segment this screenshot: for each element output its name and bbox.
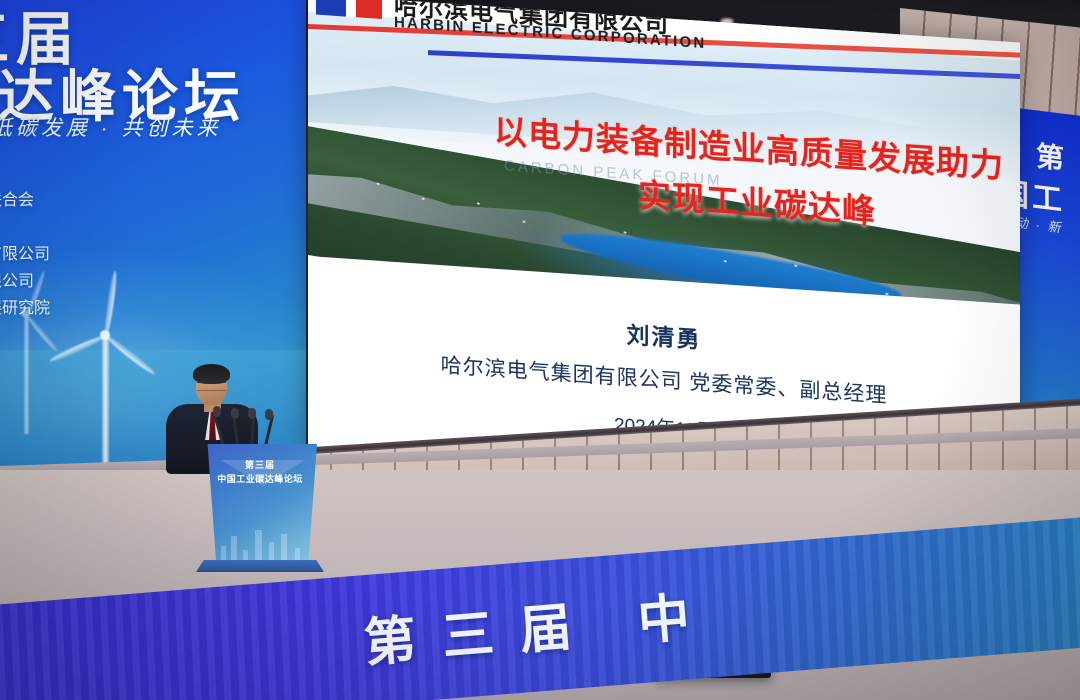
podium-base bbox=[196, 560, 324, 572]
microphone-head bbox=[265, 409, 273, 420]
organizer-line: 团有限公司 bbox=[0, 268, 284, 295]
organizer-line: 单位 bbox=[0, 160, 284, 187]
podium-skyline-graphic bbox=[217, 516, 309, 564]
podium-sign-line-1: 第三届 bbox=[203, 458, 317, 471]
microphone-head bbox=[231, 408, 239, 419]
turbine-mast bbox=[24, 314, 29, 434]
conference-photo: 三届 碳达峰论坛 · 低碳发展 · 共创未来 单位 经济联合会 单位 集团有限公… bbox=[0, 0, 1080, 700]
podium: 第三届 中国工业碳达峰论坛 bbox=[203, 444, 317, 570]
microphone-head bbox=[248, 408, 256, 419]
organizer-line: 经济联合会 bbox=[0, 187, 284, 214]
microphone-head bbox=[213, 406, 221, 417]
speaker-hair bbox=[193, 364, 230, 384]
banner-left-subtitle: · 低碳发展 · 共创未来 bbox=[0, 112, 222, 142]
organizer-line: 单位 bbox=[0, 214, 284, 241]
turbine-blade bbox=[104, 334, 157, 377]
banner-left-organizers: 单位 经济联合会 单位 集团有限公司 团有限公司 市发展研究院 bbox=[0, 160, 284, 322]
organizer-line: 集团有限公司 bbox=[0, 241, 284, 268]
podium-sign-line-2: 中国工业碳达峰论坛 bbox=[203, 472, 317, 485]
organizer-line: 市发展研究院 bbox=[0, 295, 284, 322]
speaker-glasses-icon bbox=[197, 382, 226, 391]
banner-right-line-1: 第 bbox=[1036, 134, 1064, 177]
